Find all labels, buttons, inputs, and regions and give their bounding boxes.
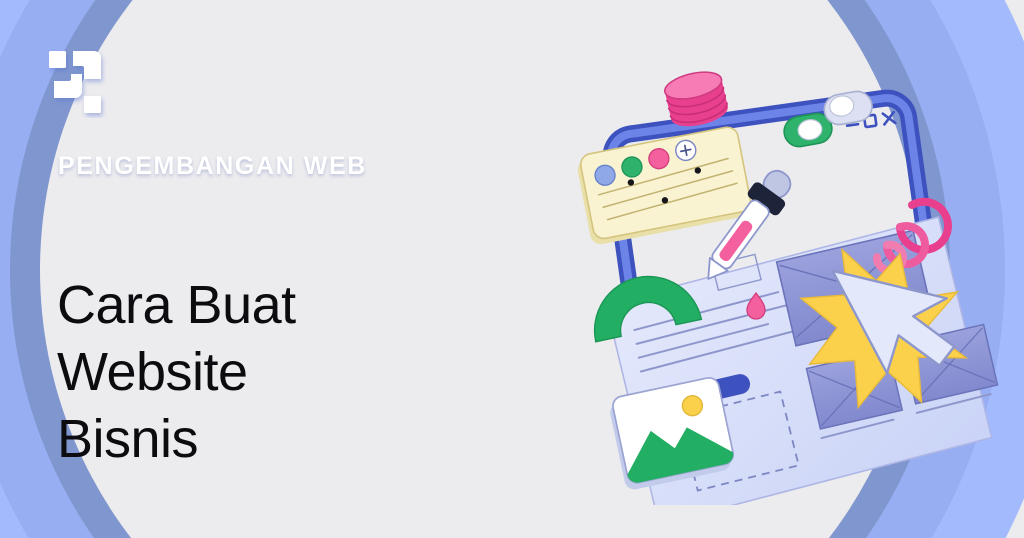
page-title-line-3: Bisnis xyxy=(57,406,387,473)
color-palette-card xyxy=(575,125,753,246)
pixel-blocks-logo xyxy=(49,46,121,118)
hero-text-block: PENGEMBANGAN WEB Cara Buat Website Bisni… xyxy=(0,0,520,538)
web-design-workspace-illustration xyxy=(560,35,1020,505)
toggle-switch-off xyxy=(822,89,874,127)
category-label: PENGEMBANGAN WEB xyxy=(58,152,367,181)
page-title: Cara Buat Website Bisnis xyxy=(57,272,387,473)
article-hero-banner: PENGEMBANGAN WEB Cara Buat Website Bisni… xyxy=(0,0,1024,538)
minimize-icon xyxy=(847,124,858,126)
page-title-line-2: Website xyxy=(57,339,387,406)
page-title-line-1: Cara Buat xyxy=(57,272,387,339)
